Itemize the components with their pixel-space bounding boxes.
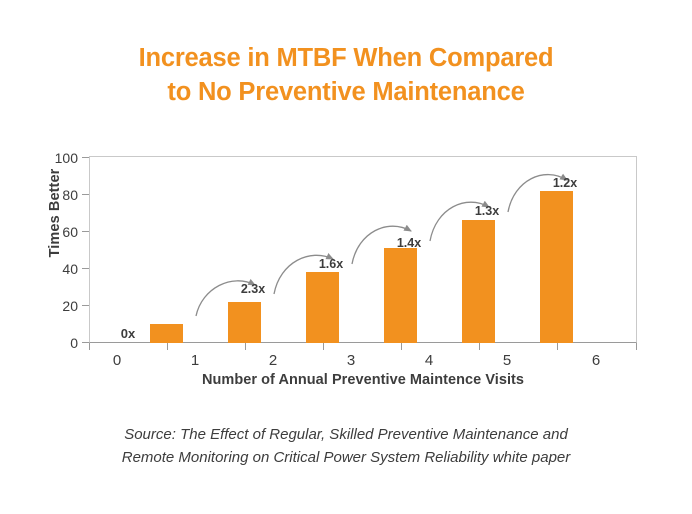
x-tick-label-0: 0 bbox=[97, 352, 137, 369]
x-tick-label-6: 6 bbox=[576, 352, 616, 369]
y-tick-label-20: 20 bbox=[44, 298, 78, 314]
x-tick-mark-2 bbox=[245, 343, 246, 350]
x-tick-label-3: 3 bbox=[331, 352, 371, 369]
y-tick-mark-20 bbox=[82, 305, 89, 306]
source-note-line-2: Remote Monitoring on Critical Power Syst… bbox=[46, 447, 646, 470]
x-axis-title: Number of Annual Preventive Maintence Vi… bbox=[89, 372, 637, 388]
annotation-label-1-6x: 1.6x bbox=[319, 257, 343, 271]
bar-category-6 bbox=[540, 191, 573, 343]
y-tick-mark-40 bbox=[82, 268, 89, 269]
x-tick-mark-5 bbox=[479, 343, 480, 350]
y-tick-mark-80 bbox=[82, 194, 89, 195]
chart-title: Increase in MTBF When Compared to No Pre… bbox=[46, 42, 646, 110]
x-tick-mark-3 bbox=[323, 343, 324, 350]
x-tick-mark-end bbox=[636, 343, 637, 350]
annotation-label-1-3x: 1.3x bbox=[475, 204, 499, 218]
chart-title-line-1: Increase in MTBF When Compared bbox=[46, 42, 646, 76]
chart-figure: Increase in MTBF When Compared to No Pre… bbox=[0, 0, 692, 514]
data-label-zero: 0x bbox=[121, 326, 135, 341]
annotation-label-2-3x: 2.3x bbox=[241, 282, 265, 296]
bar-category-4 bbox=[384, 248, 417, 343]
y-tick-mark-100 bbox=[82, 157, 89, 158]
y-tick-mark-0 bbox=[82, 342, 89, 343]
x-tick-label-4: 4 bbox=[409, 352, 449, 369]
x-tick-label-2: 2 bbox=[253, 352, 293, 369]
y-tick-label-40: 40 bbox=[44, 261, 78, 277]
annotation-label-1-4x: 1.4x bbox=[397, 236, 421, 250]
x-tick-label-5: 5 bbox=[487, 352, 527, 369]
x-tick-label-1: 1 bbox=[175, 352, 215, 369]
y-tick-label-0: 0 bbox=[44, 335, 78, 351]
y-tick-label-80: 80 bbox=[44, 187, 78, 203]
x-tick-mark-6 bbox=[557, 343, 558, 350]
bar-category-2 bbox=[228, 302, 261, 343]
x-tick-mark-0 bbox=[89, 343, 90, 350]
source-note-line-1: Source: The Effect of Regular, Skilled P… bbox=[46, 424, 646, 447]
bar-category-5 bbox=[462, 220, 495, 343]
x-tick-mark-4 bbox=[401, 343, 402, 350]
y-tick-label-100: 100 bbox=[44, 150, 78, 166]
bar-category-1 bbox=[150, 324, 183, 343]
y-tick-label-60: 60 bbox=[44, 224, 78, 240]
annotation-label-1-2x: 1.2x bbox=[553, 176, 577, 190]
bar-category-3 bbox=[306, 272, 339, 343]
chart-title-line-2: to No Preventive Maintenance bbox=[46, 76, 646, 110]
y-tick-mark-60 bbox=[82, 231, 89, 232]
x-tick-mark-1 bbox=[167, 343, 168, 350]
source-note: Source: The Effect of Regular, Skilled P… bbox=[46, 424, 646, 470]
